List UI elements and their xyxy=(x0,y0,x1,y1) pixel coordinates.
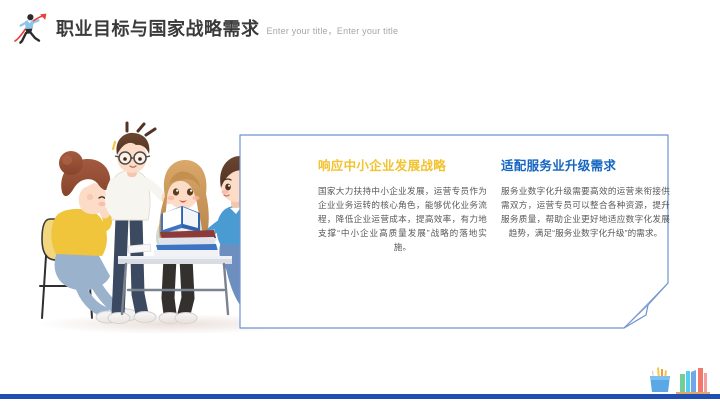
pencil-cup-icon xyxy=(650,367,670,392)
column-sme-strategy: 响应中小企业发展战略 国家大力扶持中小企业发展，运营专员作为企业业务运转的核心角… xyxy=(318,155,487,255)
column-sme-strategy-body: 国家大力扶持中小企业发展，运营专员作为企业业务运转的核心角色，能够优化业务流程，… xyxy=(318,185,487,255)
footer-bar xyxy=(0,394,720,399)
slide-root: 职业目标与国家战略需求 Enter your title，Enter your … xyxy=(0,0,720,405)
desk-supplies-pencil-cup-books-icon xyxy=(640,358,714,394)
page-subtitle: Enter your title，Enter your title xyxy=(267,19,399,37)
column-service-upgrade-title: 适配服务业升级需求 xyxy=(501,155,670,174)
column-sme-strategy-title: 响应中小企业发展战略 xyxy=(318,155,487,174)
running-businessman-arrow-icon xyxy=(14,11,50,45)
slide-header: 职业目标与国家战略需求 Enter your title，Enter your … xyxy=(0,0,720,56)
column-service-upgrade: 适配服务业升级需求 服务业数字化升级需要高效的运营来衔接供需双方，运营专员可以整… xyxy=(501,155,670,255)
standing-books-icon xyxy=(676,368,710,394)
card-columns: 响应中小企业发展战略 国家大力扶持中小企业发展，运营专员作为企业业务运转的核心角… xyxy=(318,155,670,255)
column-service-upgrade-body: 服务业数字化升级需要高效的运营来衔接供需双方，运营专员可以整合各种资源，提升服务… xyxy=(501,185,670,241)
content-card: 响应中小企业发展战略 国家大力扶持中小企业发展，运营专员作为企业业务运转的核心角… xyxy=(238,133,670,330)
page-title: 职业目标与国家战略需求 xyxy=(56,15,260,41)
